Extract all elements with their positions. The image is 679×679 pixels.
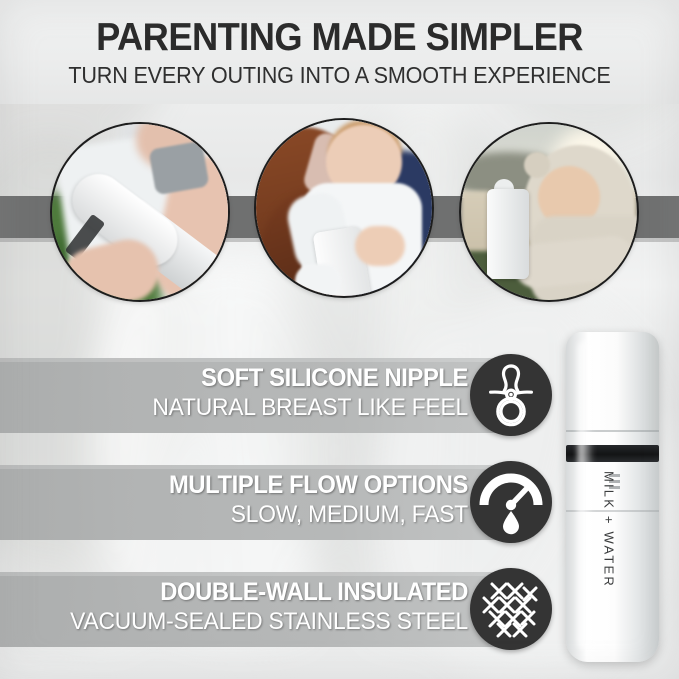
feature-subtitle: NATURAL BREAST LIKE FEEL <box>23 393 468 422</box>
flow-gauge-icon <box>470 461 552 543</box>
feature-subtitle: SLOW, MEDIUM, FAST <box>23 500 468 529</box>
insulation-weave-icon <box>470 568 552 650</box>
photo-scene-beach-toddler <box>461 124 637 300</box>
feature-title: SOFT SILICONE NIPPLE <box>23 364 468 393</box>
feature-text-block: MULTIPLE FLOW OPTIONS SLOW, MEDIUM, FAST <box>0 465 472 529</box>
feature-row-soft-silicone-nipple: SOFT SILICONE NIPPLE NATURAL BREAST LIKE… <box>0 358 530 433</box>
photo-mother-hand <box>355 226 405 266</box>
lifestyle-photo-3 <box>461 124 637 300</box>
feature-text-block: DOUBLE-WALL INSULATED VACUUM-SEALED STAI… <box>0 572 472 636</box>
header-banner: PARENTING MADE SIMPLER TURN EVERY OUTING… <box>0 0 679 104</box>
photo-bottle-cap <box>149 141 210 196</box>
feature-title: DOUBLE-WALL INSULATED <box>23 578 468 607</box>
feature-text-block: SOFT SILICONE NIPPLE NATURAL BREAST LIKE… <box>0 358 472 422</box>
product-bottle: MILK + WATER <box>566 332 659 662</box>
feature-row-double-wall-insulated: DOUBLE-WALL INSULATED VACUUM-SEALED STAI… <box>0 572 530 647</box>
photo-scene-outdoor-hands <box>52 124 228 300</box>
bottle-label-text: MILK + WATER <box>602 455 617 605</box>
feature-row-multiple-flow-options: MULTIPLE FLOW OPTIONS SLOW, MEDIUM, FAST <box>0 465 530 540</box>
bottle-highlight <box>578 340 594 650</box>
lifestyle-photo-2 <box>256 120 432 296</box>
photo-row <box>0 118 679 306</box>
photo-baby-sock <box>295 264 341 296</box>
page-subtitle: TURN EVERY OUTING INTO A SMOOTH EXPERIEN… <box>20 62 658 88</box>
photo-scene-mother-baby <box>256 120 432 296</box>
page-title: PARENTING MADE SIMPLER <box>24 17 655 59</box>
infographic-page: PARENTING MADE SIMPLER TURN EVERY OUTING… <box>0 0 679 679</box>
feature-title: MULTIPLE FLOW OPTIONS <box>23 471 468 500</box>
photo-bottle-body <box>487 189 529 279</box>
feature-subtitle: VACUUM-SEALED STAINLESS STEEL <box>23 607 468 636</box>
lifestyle-photo-1 <box>52 124 228 300</box>
silicone-nipple-icon <box>470 354 552 436</box>
